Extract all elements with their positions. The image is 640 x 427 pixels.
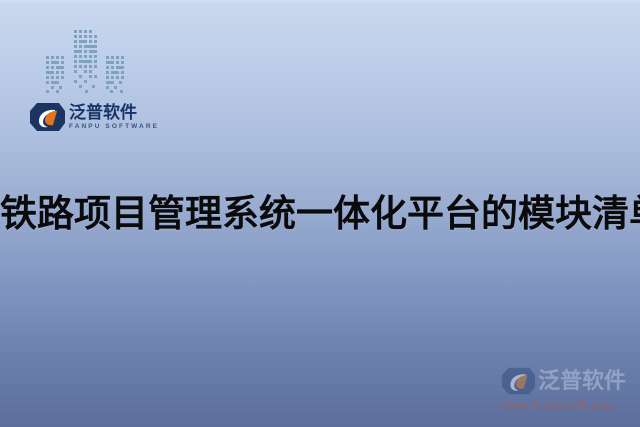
fanpu-hexagon-logo-icon [28, 102, 66, 132]
top-edge-sheen [0, 0, 640, 3]
page-title: 铁路项目管理系统一体化平台的模块清单 [0, 190, 640, 236]
fanpu-hexagon-logo-icon [500, 366, 536, 396]
watermark-lockup: 泛普软件 [500, 366, 640, 396]
brand-wordmark: 泛普软件 FANPU SOFTWARE [69, 104, 159, 131]
brand-name-en: FANPU SOFTWARE [69, 124, 159, 131]
brand-block: 泛普软件 FANPU SOFTWARE [28, 26, 158, 96]
promo-banner: 泛普软件 FANPU SOFTWARE 铁路项目管理系统一体化平台的模块清单 泛… [0, 0, 640, 427]
watermark-name-cn: 泛普软件 [538, 370, 626, 392]
brand-lockup: 泛普软件 FANPU SOFTWARE [28, 102, 159, 132]
brand-name-cn: 泛普软件 [69, 104, 159, 121]
watermark-url: www.fanpusoft.com [500, 400, 640, 412]
watermark: 泛普软件 www.fanpusoft.com [500, 366, 640, 412]
pixel-skyline-buildings-icon [42, 26, 154, 96]
